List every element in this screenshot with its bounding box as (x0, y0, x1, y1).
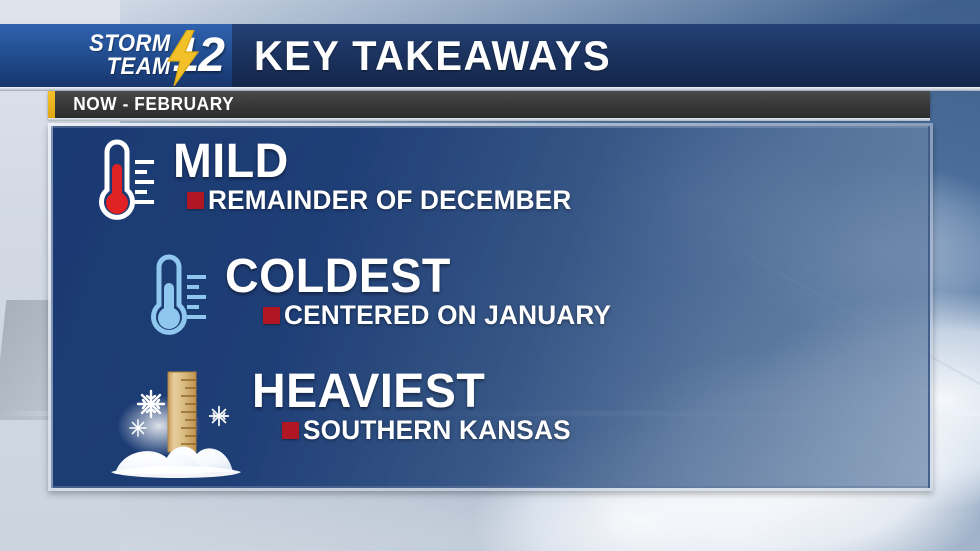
takeaway-detail: REMAINDER OF DECEMBER (208, 187, 571, 214)
snow-ruler-icon (111, 368, 246, 488)
takeaways-panel: MILD REMAINDER OF DECEMBER (48, 123, 933, 491)
takeaway-text-heaviest: HEAVIEST SOUTHERN KANSAS (248, 368, 579, 444)
takeaway-headline: COLDEST (225, 253, 609, 300)
takeaway-headline: MILD (173, 138, 570, 185)
timeframe-bar: NOW - FEBRUARY (48, 91, 930, 118)
takeaway-headline: HEAVIEST (252, 368, 569, 415)
thermometer-warm-icon (69, 138, 169, 243)
timeframe-accent-stripe (48, 91, 55, 118)
page-title: KEY TAKEAWAYS (254, 32, 611, 80)
storm-team-wordmark: STORM TEAM (82, 33, 171, 77)
takeaway-detail: CENTERED ON JANUARY (284, 302, 611, 329)
takeaway-text-coldest: COLDEST CENTERED ON JANUARY (221, 253, 621, 329)
takeaway-bullet-row: REMAINDER OF DECEMBER (187, 187, 583, 214)
header-title-container: KEY TAKEAWAYS (232, 24, 980, 87)
logo-channel-number: 12 (173, 28, 224, 83)
bullet-square-icon (263, 307, 280, 324)
takeaway-row-coldest: COLDEST CENTERED ON JANUARY (121, 253, 621, 358)
takeaways-panel-inner: MILD REMAINDER OF DECEMBER (51, 126, 930, 488)
bullet-square-icon (187, 192, 204, 209)
takeaway-text-mild: MILD REMAINDER OF DECEMBER (169, 138, 583, 214)
logo-line-team: TEAM (106, 56, 170, 78)
bullet-square-icon (282, 422, 299, 439)
timeframe-label: NOW - FEBRUARY (55, 94, 234, 115)
thermometer-cold-icon (121, 253, 221, 358)
takeaway-bullet-row: CENTERED ON JANUARY (263, 302, 621, 329)
takeaway-bullet-row: SOUTHERN KANSAS (282, 417, 579, 444)
header-bar: STORM TEAM 12 KEY TAKEAWAYS (0, 24, 980, 87)
timeframe-bottom-divider (48, 118, 930, 121)
takeaway-row-mild: MILD REMAINDER OF DECEMBER (69, 138, 583, 243)
station-logo: STORM TEAM 12 (0, 24, 232, 87)
takeaway-detail: SOUTHERN KANSAS (303, 417, 571, 444)
takeaway-row-heaviest: HEAVIEST SOUTHERN KANSAS (111, 368, 579, 488)
